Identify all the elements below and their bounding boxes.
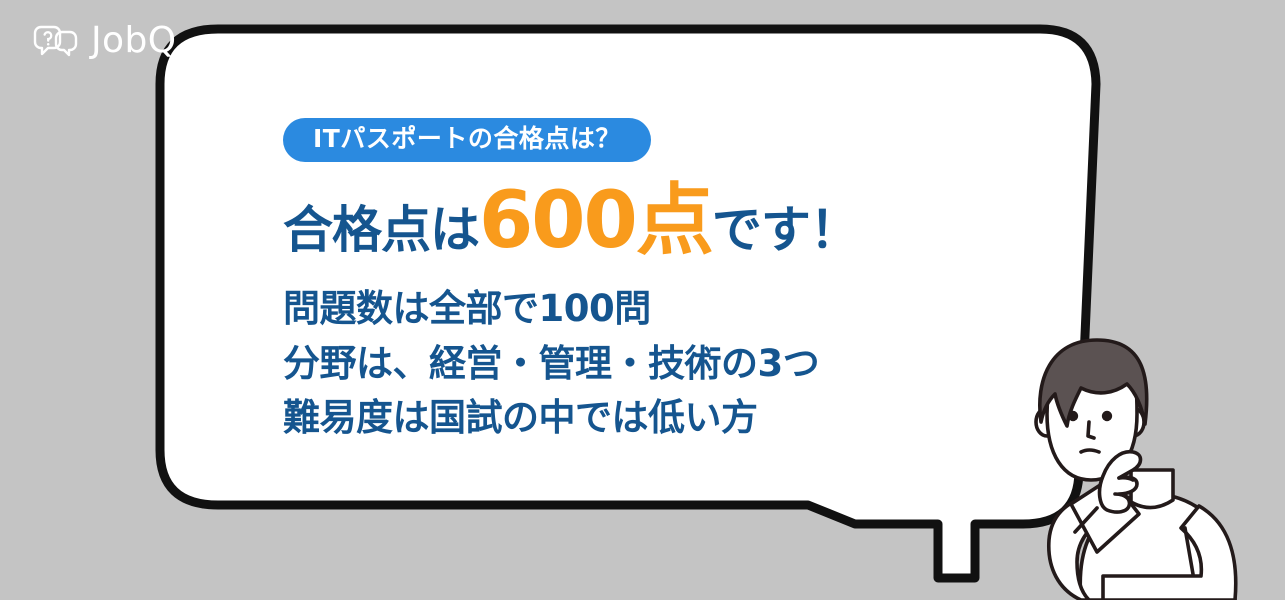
jobq-logo[interactable]: JobQ: [32, 18, 192, 64]
character-mouth: [1081, 450, 1099, 452]
headline-suffix: です！: [712, 205, 859, 255]
body-line-2: 分野は、経営・管理・技術の3つ: [283, 337, 923, 391]
character-eye-left: [1068, 411, 1078, 421]
body-line-1: 問題数は全部で100問: [283, 282, 923, 336]
headline: 合格点は 600点 です！: [283, 182, 923, 260]
bubble-content: ITパスポートの合格点は？ 合格点は 600点 です！ 問題数は全部で100問 …: [283, 118, 923, 445]
headline-emphasis-score: 600点: [479, 182, 712, 260]
poster-canvas: JobQ ITパスポートの合格点は？ 合格点は 600点 です！ 問題数は全部で…: [0, 0, 1285, 600]
speech-bubbles-question-icon: [32, 23, 82, 59]
character-eye-right: [1102, 411, 1112, 421]
jobq-logo-text: JobQ: [91, 23, 176, 59]
headline-prefix: 合格点は: [283, 205, 479, 255]
body-text: 問題数は全部で100問 分野は、経営・管理・技術の3つ 難易度は国試の中では低い…: [283, 282, 923, 445]
question-badge: ITパスポートの合格点は？: [283, 118, 651, 162]
body-line-3: 難易度は国試の中では低い方: [283, 391, 923, 445]
thinking-man-illustration: [985, 318, 1285, 600]
